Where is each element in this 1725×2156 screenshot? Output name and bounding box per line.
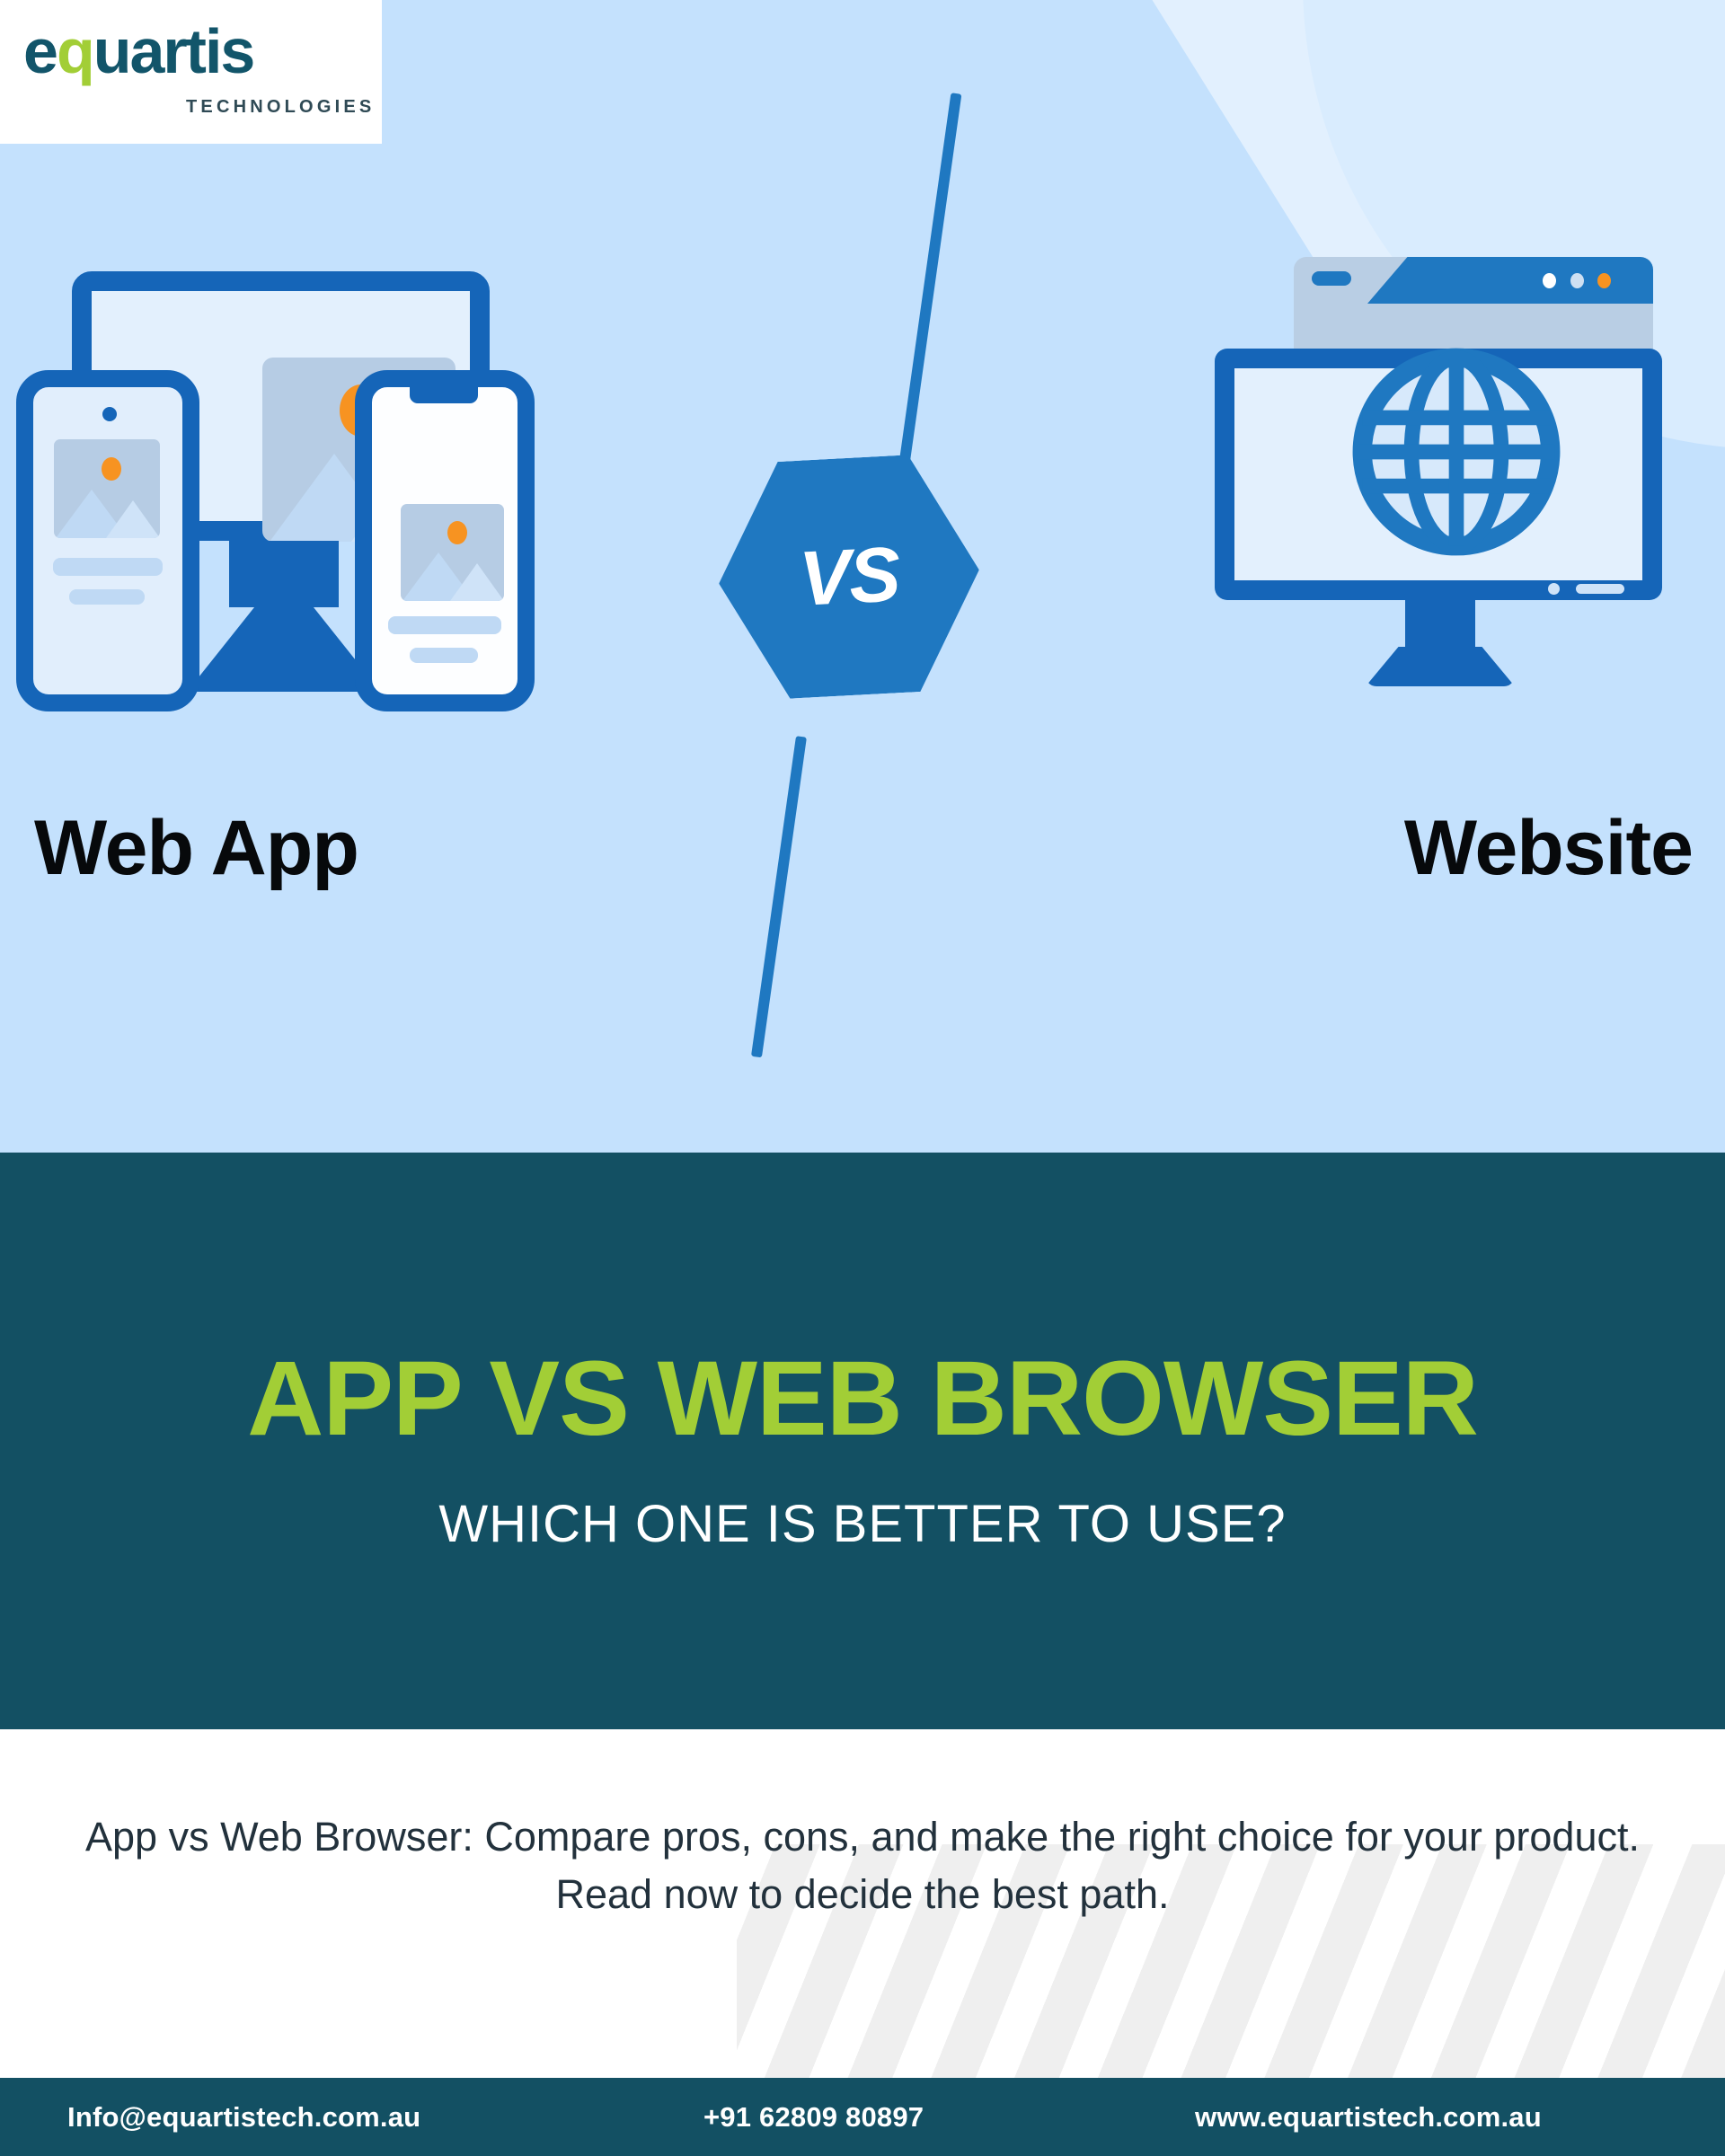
footer-email[interactable]: Info@equartistech.com.au	[67, 2101, 420, 2134]
title-band: APP VS WEB BROWSER WHICH ONE IS BETTER T…	[0, 1153, 1725, 1729]
footer-website[interactable]: www.equartistech.com.au	[1195, 2101, 1542, 2134]
page-subtitle: WHICH ONE IS BETTER TO USE?	[0, 1498, 1725, 1551]
text-line-placeholder	[410, 648, 478, 663]
web-app-illustration	[16, 271, 537, 689]
browser-tab-pill-icon	[1312, 271, 1351, 286]
footer-bar: Info@equartistech.com.au +91 62809 80897…	[0, 2078, 1725, 2156]
text-line-placeholder	[69, 589, 145, 605]
smartphone-icon	[355, 370, 535, 711]
divider-slash-top	[898, 93, 961, 468]
browser-dot-icon	[1543, 273, 1556, 288]
mountain-icon	[106, 500, 160, 538]
image-placeholder-icon	[54, 439, 160, 538]
description-paragraph: App vs Web Browser: Compare pros, cons, …	[0, 1808, 1725, 1923]
camera-dot-icon	[102, 407, 117, 421]
monitor-base	[1366, 647, 1515, 686]
footer-phone[interactable]: +91 62809 80897	[703, 2101, 924, 2134]
monitor-neck	[1405, 600, 1475, 650]
divider-slash-bottom	[751, 736, 807, 1057]
hero-section: equartis TECHNOLOGIES	[0, 0, 1725, 1153]
vs-label: VS	[797, 530, 901, 624]
tablet-icon	[16, 370, 199, 711]
monitor-neck	[229, 541, 339, 607]
text-line-placeholder	[53, 558, 163, 576]
mountain-icon	[450, 563, 504, 601]
website-illustration	[1215, 248, 1691, 724]
brand-logo[interactable]: equartis TECHNOLOGIES	[0, 0, 382, 144]
web-app-label: Web App	[34, 804, 358, 893]
infographic-poster: equartis TECHNOLOGIES	[0, 0, 1725, 2156]
monitor-led-icon	[1548, 583, 1560, 595]
page-title: APP VS WEB BROWSER	[0, 1346, 1725, 1452]
logo-tagline: TECHNOLOGIES	[186, 97, 375, 118]
phone-notch-icon	[410, 387, 478, 403]
vs-hexagon-badge: VS	[712, 452, 985, 702]
sun-icon	[102, 457, 121, 481]
browser-dot-icon	[1570, 273, 1584, 288]
monitor-slot-icon	[1576, 584, 1624, 594]
logo-letter-e: e	[23, 16, 57, 86]
browser-dot-icon	[1597, 273, 1611, 288]
text-line-placeholder	[388, 616, 501, 634]
website-label: Website	[1404, 804, 1693, 893]
logo-letter-q: q	[57, 16, 93, 86]
globe-icon	[1349, 345, 1563, 559]
monitor-stand	[191, 607, 376, 686]
logo-wordmark: equartis	[23, 20, 253, 83]
image-placeholder-icon	[401, 504, 504, 601]
logo-letters-rest: uartis	[93, 16, 254, 86]
sun-icon	[447, 521, 467, 544]
description-section: App vs Web Browser: Compare pros, cons, …	[0, 1729, 1725, 2078]
